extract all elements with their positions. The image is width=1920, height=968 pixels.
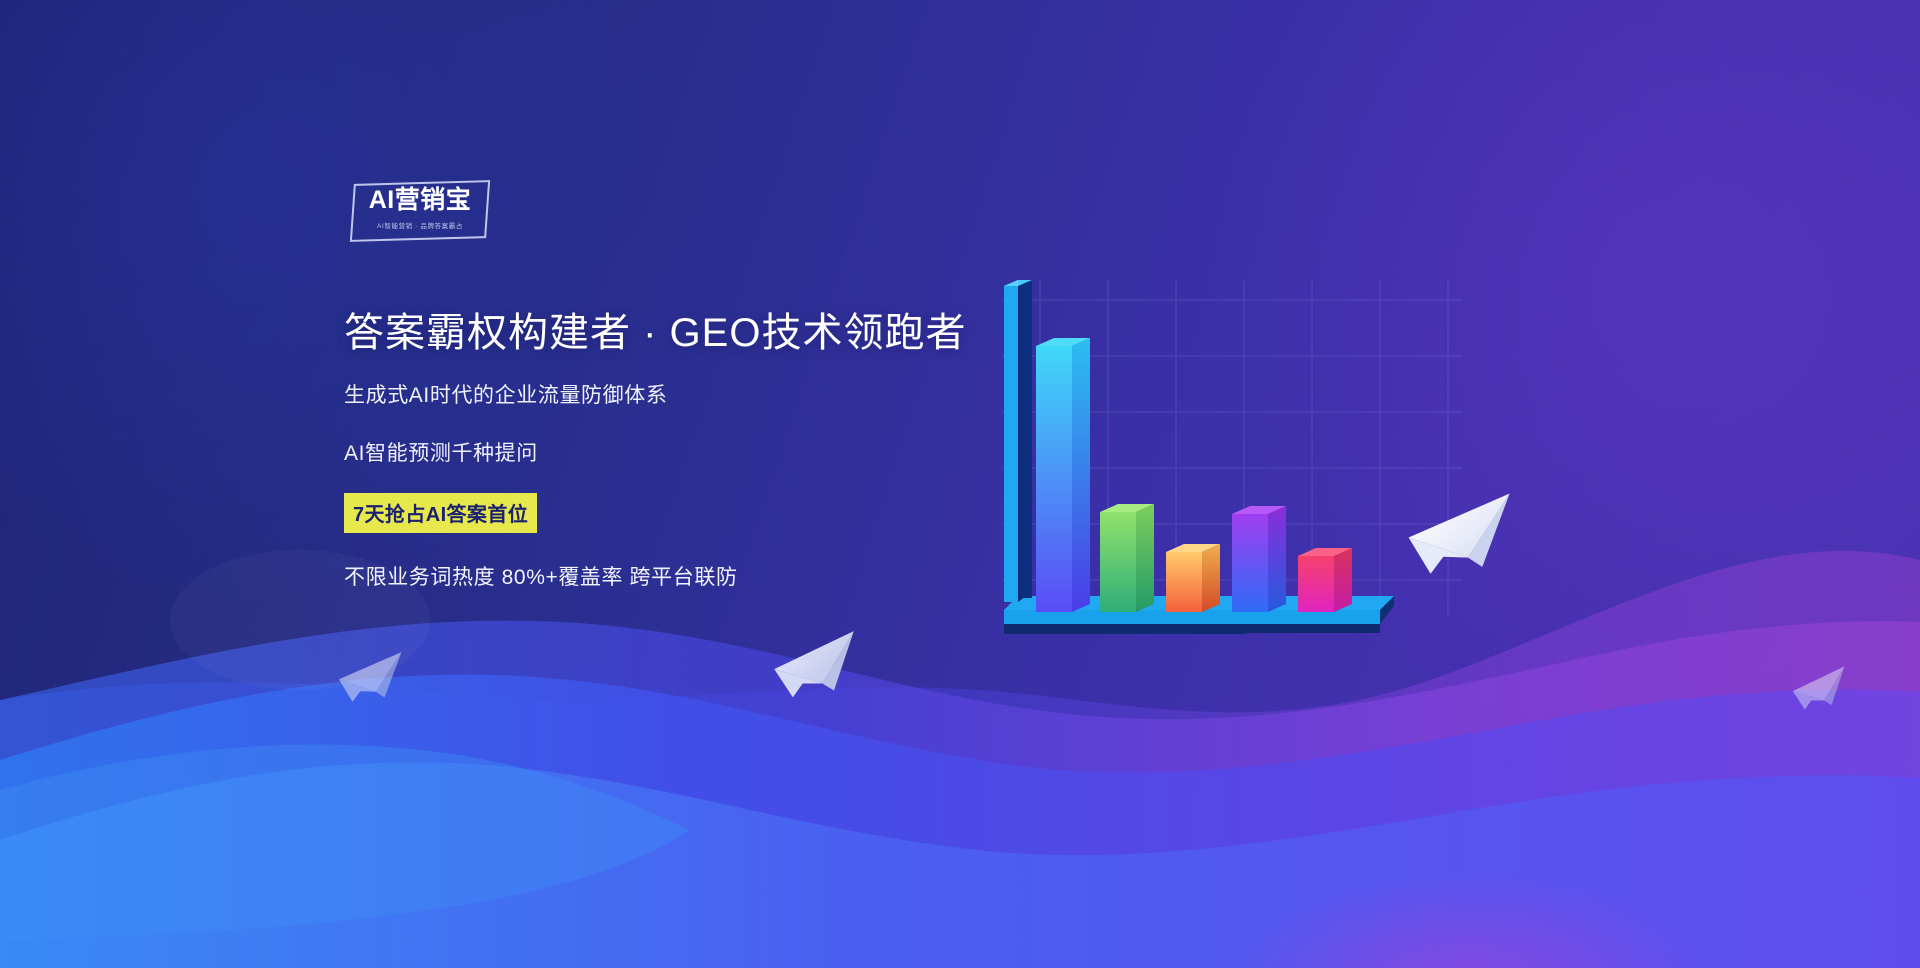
paper-plane-right-icon: [1790, 666, 1853, 713]
paper-plane-layer: [0, 0, 1920, 968]
paper-plane-mid-icon: [336, 652, 410, 706]
hero-banner: AI营销宝 AI智能营销 · 品牌答案霸占 答案霸权构建者 · GEO技术领跑者…: [0, 0, 1920, 968]
paper-plane-chart-icon: [1404, 494, 1523, 581]
paper-plane-left-icon: [770, 631, 867, 703]
